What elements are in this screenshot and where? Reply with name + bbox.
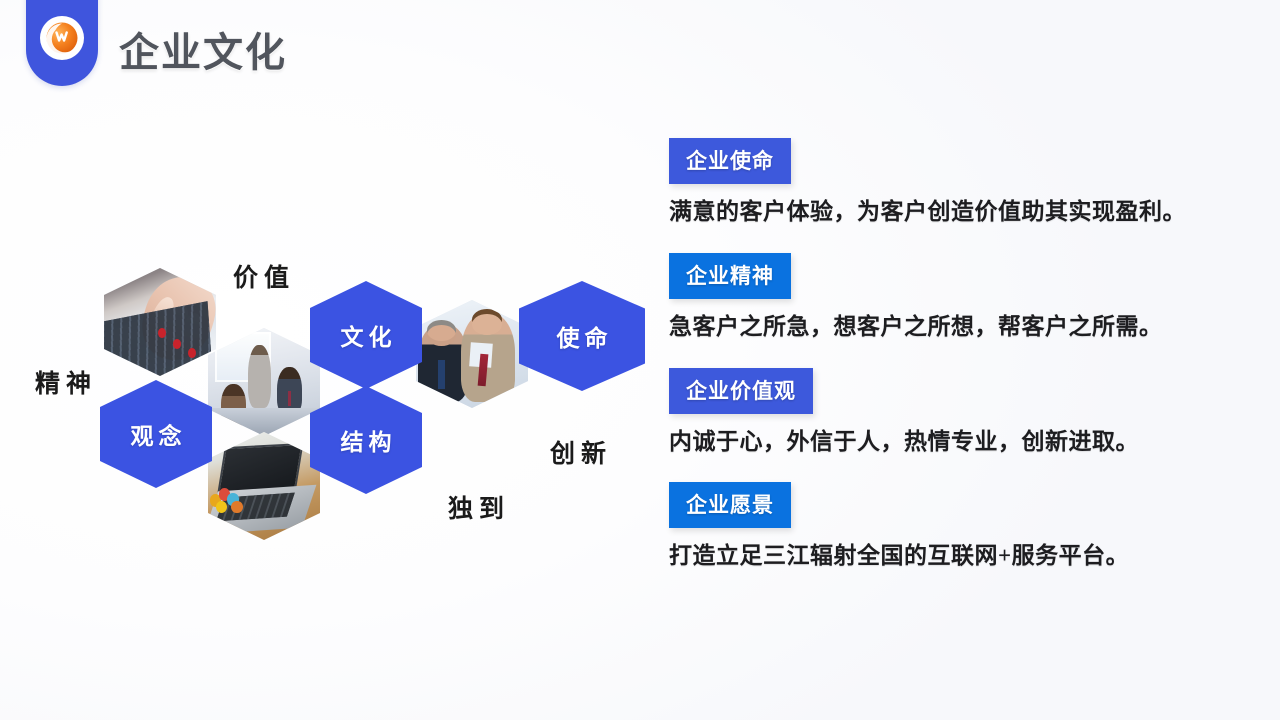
hex-label-shiming: 使命 [552,319,613,353]
content-block-spirit: 企业精神 急客户之所急，想客户之所想，帮客户之所需。 [669,253,1249,342]
hex-photo-office-team-meeting [208,328,320,436]
badge-mission[interactable]: 企业使命 [669,138,791,184]
text-values: 内诚于心，外信于人，热情专业，创新进取。 [669,428,1249,457]
hex-photo-hands-typing-on-laptop-keyboard [104,268,216,376]
hex-shiming[interactable]: 使命 [519,281,645,391]
hex-label-wenhua: 文化 [336,318,397,352]
hex-guannian[interactable]: 观念 [100,380,212,488]
hex-label-guannian: 观念 [126,417,187,451]
slide-canvas: 企业文化 [0,0,1280,720]
culture-content-list: 企业使命 满意的客户体验，为客户创造价值助其实现盈利。 企业精神 急客户之所急，… [669,138,1249,571]
badge-values[interactable]: 企业价值观 [669,368,813,414]
text-spirit: 急客户之所急，想客户之所想，帮客户之所需。 [669,313,1249,342]
hex-wenhua[interactable]: 文化 [310,281,422,389]
hex-photo-laptop-on-wooden-desk-with-flowers [208,432,320,540]
hex-photo-two-businessmen-discussing [416,300,528,408]
hexagon-diagram: 观念 文化 结构 使命 精神 价值 创新 独到 [0,0,660,720]
content-block-mission: 企业使命 满意的客户体验，为客户创造价值助其实现盈利。 [669,138,1249,227]
hex-label-jiegou: 结构 [336,423,397,457]
text-vision: 打造立足三江辐射全国的互联网+服务平台。 [669,542,1249,571]
hex-jiegou[interactable]: 结构 [310,386,422,494]
outer-label-jingshen: 精神 [29,364,97,400]
outer-label-dudao: 独到 [442,489,510,525]
badge-spirit[interactable]: 企业精神 [669,253,791,299]
content-block-values: 企业价值观 内诚于心，外信于人，热情专业，创新进取。 [669,368,1249,457]
content-block-vision: 企业愿景 打造立足三江辐射全国的互联网+服务平台。 [669,482,1249,571]
badge-vision[interactable]: 企业愿景 [669,482,791,528]
outer-label-jiazhi: 价值 [227,258,295,294]
outer-label-chuangxin: 创新 [544,434,612,470]
text-mission: 满意的客户体验，为客户创造价值助其实现盈利。 [669,198,1249,227]
